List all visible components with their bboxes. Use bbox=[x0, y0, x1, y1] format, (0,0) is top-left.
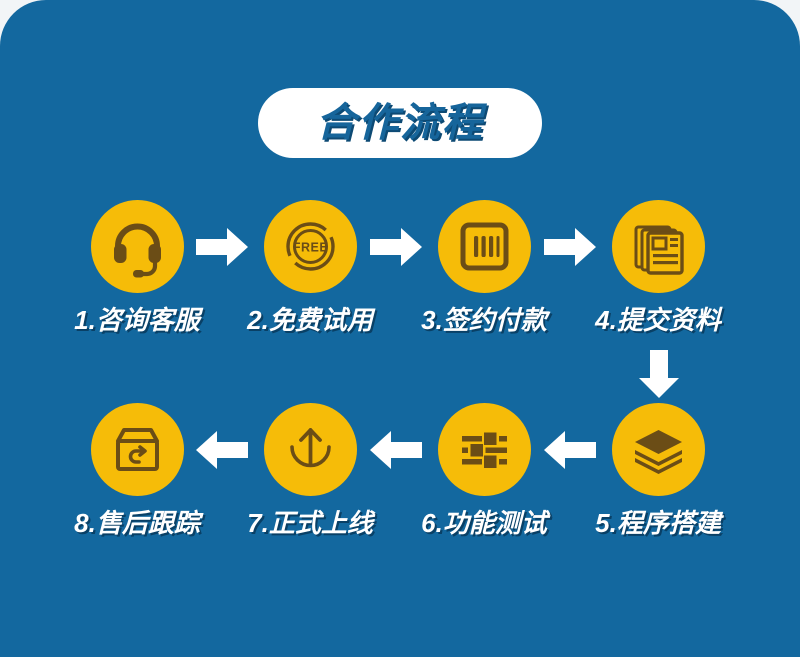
process-step-4[interactable]: 4.提交资料 bbox=[568, 200, 748, 337]
step-1-label: 1.咨询客服 bbox=[47, 300, 227, 337]
process-step-2[interactable]: FREE 2.免费试用 bbox=[220, 200, 400, 337]
step-2-label: 2.免费试用 bbox=[220, 300, 400, 337]
step-8-icon-circle bbox=[91, 403, 184, 496]
process-row-bottom: 8.售后跟踪 7.正式上线 bbox=[0, 403, 800, 548]
return-box-icon bbox=[91, 403, 184, 496]
process-step-8[interactable]: 8.售后跟踪 bbox=[47, 403, 227, 540]
free-badge-text: FREE bbox=[292, 241, 327, 255]
process-step-7[interactable]: 7.正式上线 bbox=[220, 403, 400, 540]
page-title: 合作流程 bbox=[316, 103, 484, 143]
step-1-icon-circle bbox=[91, 200, 184, 293]
step-7-label: 7.正式上线 bbox=[220, 503, 400, 540]
step-6-label: 6.功能测试 bbox=[394, 503, 574, 540]
step-6-icon-circle bbox=[438, 403, 531, 496]
title-pill: 合作流程 bbox=[258, 88, 542, 158]
cooperation-process-poster: 合作流程 1.咨询客服 bbox=[0, 0, 800, 657]
process-step-3[interactable]: 3.签约付款 bbox=[394, 200, 574, 337]
free-badge-icon: FREE bbox=[264, 200, 357, 293]
step-3-icon-circle bbox=[438, 200, 531, 293]
upload-icon bbox=[264, 403, 357, 496]
step-5-icon-circle bbox=[612, 403, 705, 496]
step-4-label: 4.提交资料 bbox=[568, 300, 748, 337]
step-5-label: 5.程序搭建 bbox=[568, 503, 748, 540]
step-8-label: 8.售后跟踪 bbox=[47, 503, 227, 540]
headset-icon bbox=[91, 200, 184, 293]
step-7-icon-circle bbox=[264, 403, 357, 496]
arrow-step4-to-step5-icon bbox=[633, 348, 685, 400]
step-4-icon-circle bbox=[612, 200, 705, 293]
process-row-top: 1.咨询客服 FREE 2.免费试用 bbox=[0, 200, 800, 345]
layers-icon bbox=[612, 403, 705, 496]
step-3-label: 3.签约付款 bbox=[394, 300, 574, 337]
process-step-6[interactable]: 6.功能测试 bbox=[394, 403, 574, 540]
process-step-1[interactable]: 1.咨询客服 bbox=[47, 200, 227, 337]
step-2-icon-circle: FREE bbox=[264, 200, 357, 293]
process-step-5[interactable]: 5.程序搭建 bbox=[568, 403, 748, 540]
documents-icon bbox=[612, 200, 705, 293]
sliders-icon bbox=[438, 403, 531, 496]
contract-seal-icon bbox=[438, 200, 531, 293]
